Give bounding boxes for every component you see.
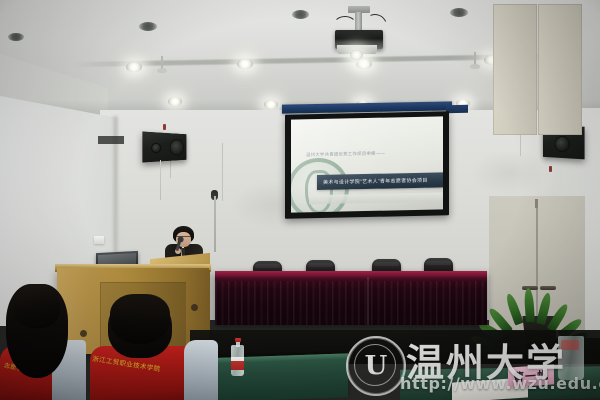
ceiling-downlight-icon [237, 59, 253, 69]
projector-icon [327, 6, 389, 58]
audience-member-left: 志愿者 [0, 284, 92, 400]
double-door-icon[interactable] [493, 4, 537, 135]
name-card-text: 曹一帆 [513, 367, 549, 385]
speaker-cable [160, 160, 161, 200]
ceiling-drop-rod [161, 56, 163, 70]
door-leaf-right[interactable] [538, 4, 582, 135]
lecture-hall-photo: 温州大学共青团优秀工作项目申报—— 美术与设计学院“艺术人”青年志愿者协会项目 [0, 0, 600, 400]
wall-stain [470, 150, 550, 196]
speaker-cone [170, 139, 184, 156]
wall-cable [222, 143, 223, 201]
ceiling-downlight-icon [126, 62, 142, 72]
wall-marker [163, 124, 166, 130]
audience-hair [110, 294, 170, 344]
bottle-label [231, 357, 244, 370]
name-card: 曹一帆 [508, 364, 554, 387]
slide-footer-strip [309, 192, 443, 204]
water-bottle[interactable] [231, 338, 244, 376]
wall-speaker-icon [142, 131, 186, 162]
ceiling-vent [8, 33, 24, 41]
audience-member-center: 浙江工贸职业技术学院 [88, 296, 218, 400]
projection-screen: 温州大学共青团优秀工作项目申报—— 美术与设计学院“艺术人”青年志愿者协会项目 [291, 116, 443, 212]
ceiling-downlight-icon [264, 100, 278, 109]
ceiling-downlight-icon [168, 97, 182, 106]
door-seam [536, 200, 538, 331]
door-bolt [535, 199, 538, 208]
door-handle[interactable] [540, 286, 556, 290]
slide-banner-text: 美术与设计学院“艺术人”青年志愿者协会项目 [323, 176, 441, 185]
light-switch[interactable] [94, 236, 104, 244]
stage-table [215, 271, 487, 325]
ceiling-downlight-icon [356, 59, 372, 69]
audience-head [14, 284, 60, 328]
table-top-edge [215, 271, 487, 278]
speaker-cone [555, 136, 570, 153]
ceiling-vent [450, 8, 468, 17]
bottle-cap [235, 338, 241, 342]
ceiling-vent [139, 22, 157, 31]
table-skirt-pleats [215, 281, 487, 325]
screen-valance-extension [446, 105, 468, 114]
ceiling-vent [292, 10, 309, 19]
speaker-tweeter [151, 143, 161, 154]
wall-panel [98, 136, 124, 144]
microphone-stand [214, 196, 216, 252]
ceiling-drop-rod [474, 52, 476, 66]
table-skirt-seam [367, 277, 369, 325]
audience-shirt [184, 340, 218, 400]
slide-heading: 温州大学共青团优秀工作项目申报—— [306, 150, 431, 159]
wall-marker [549, 166, 552, 172]
glass-jar [558, 336, 584, 380]
projector-lens [350, 50, 363, 60]
slide-banner: 美术与设计学院“艺术人”青年志愿者协会项目 [317, 172, 443, 190]
